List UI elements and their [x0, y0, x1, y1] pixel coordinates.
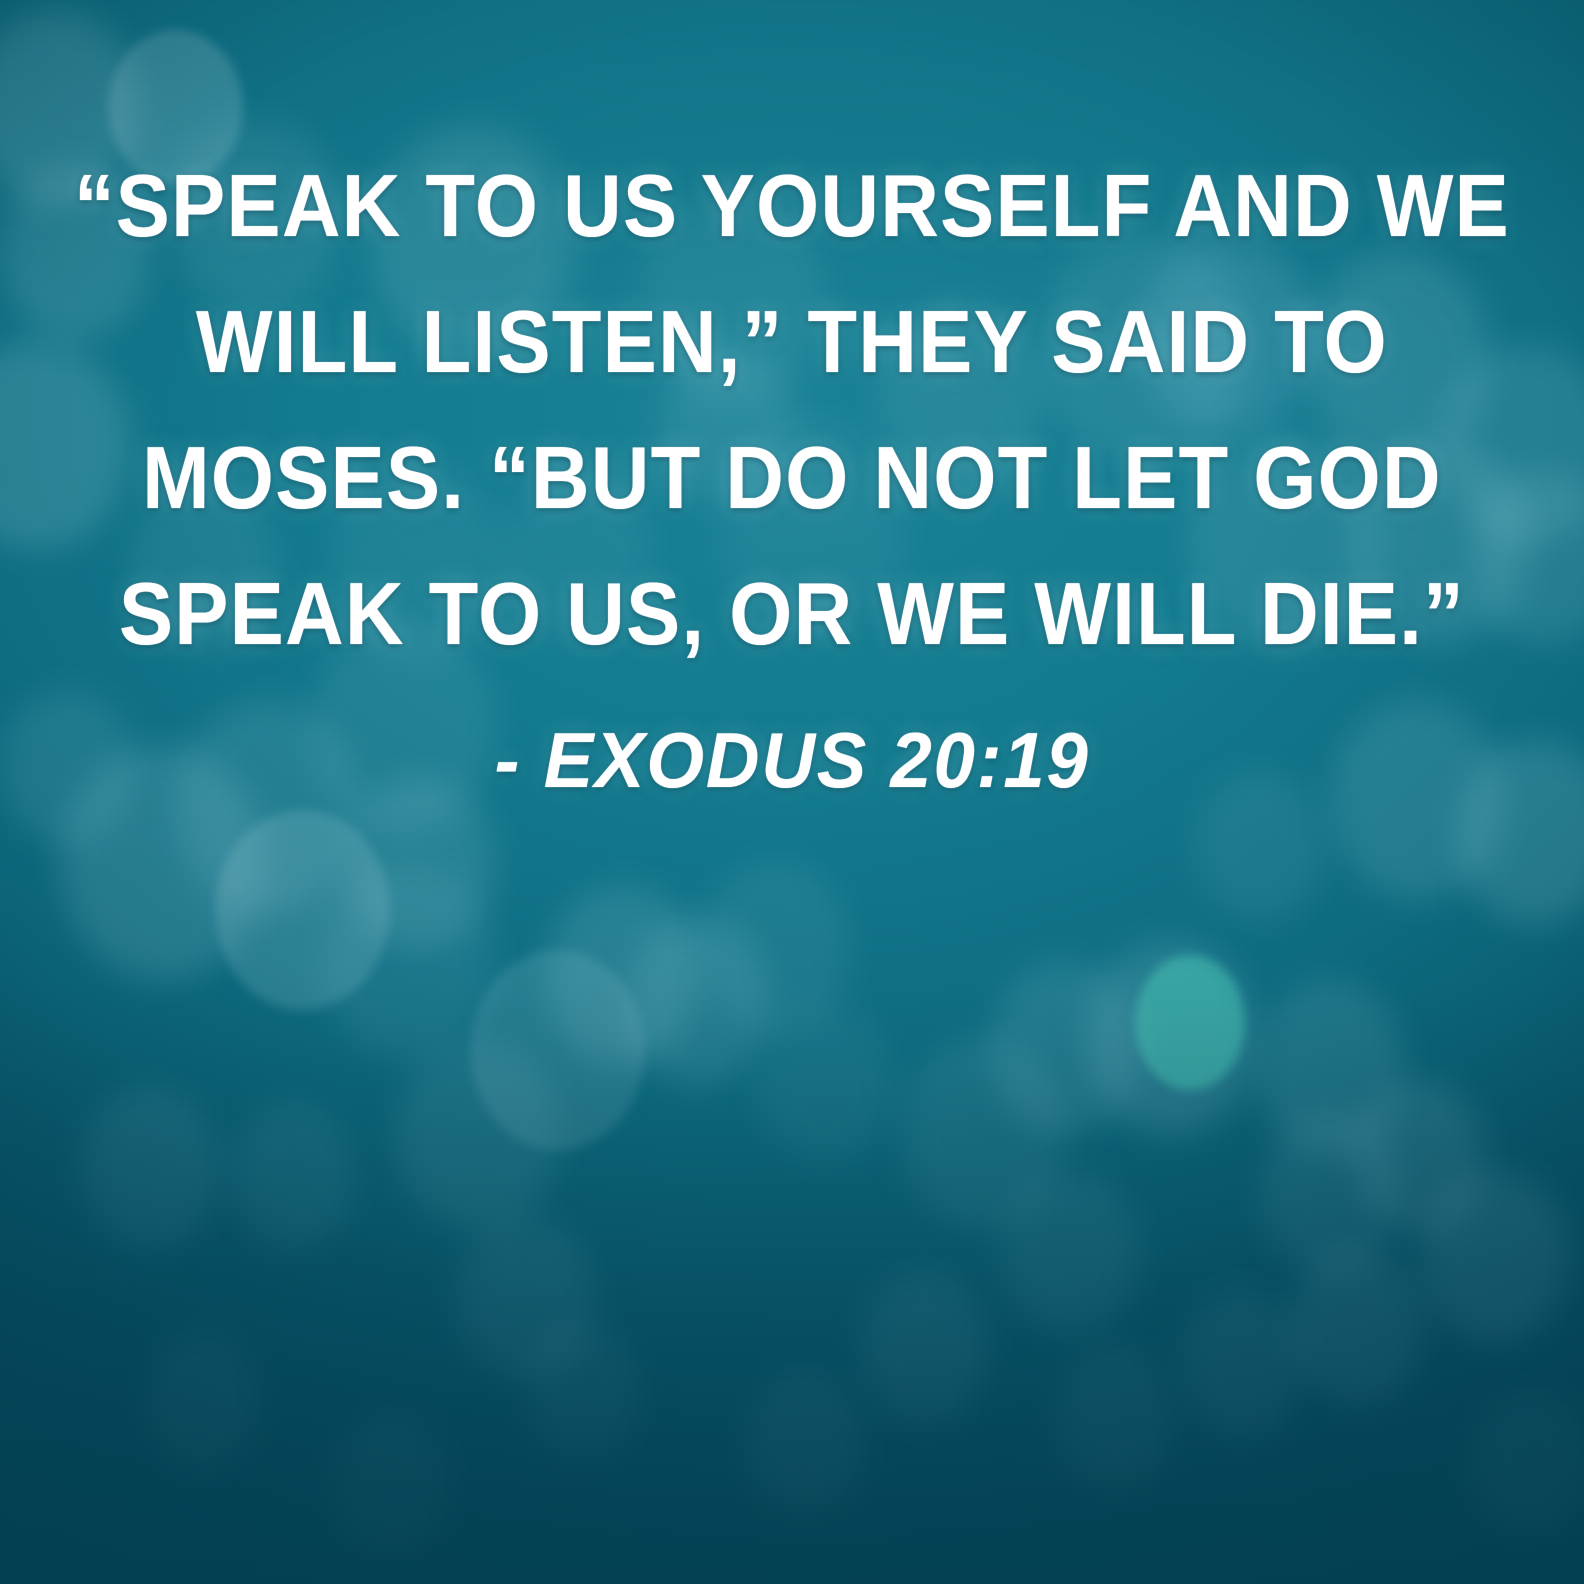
verse-line-2: WILL LISTEN,” THEY SAID TO	[63, 274, 1520, 410]
verse-line-3: MOSES. “BUT DO NOT LET GOD	[63, 410, 1520, 546]
verse-text-block: “SPEAK TO US YOURSELF AND WE WILL LISTEN…	[0, 138, 1584, 682]
verse-attribution: - EXODUS 20:19	[0, 708, 1584, 812]
verse-attribution-text: - EXODUS 20:19	[495, 708, 1090, 812]
verse-line-4: SPEAK TO US, OR WE WILL DIE.”	[63, 546, 1520, 682]
verse-line-1: “SPEAK TO US YOURSELF AND WE	[63, 138, 1520, 274]
verse-image-canvas: “SPEAK TO US YOURSELF AND WE WILL LISTEN…	[0, 0, 1584, 1584]
